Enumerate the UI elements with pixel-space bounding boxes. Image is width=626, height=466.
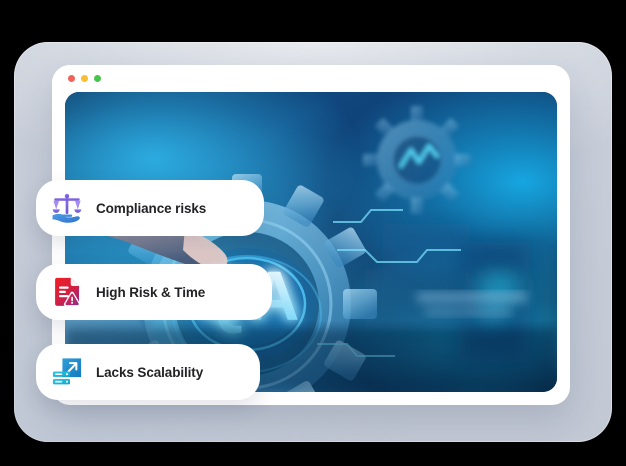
screenshot-stage: QA: [0, 0, 626, 466]
server-growth-icon: [50, 355, 84, 389]
feature-card-lacks-scalability[interactable]: Lacks Scalability: [36, 344, 260, 400]
feature-card-label: Lacks Scalability: [96, 365, 203, 380]
browser-titlebar: [52, 65, 570, 92]
maximize-icon[interactable]: [94, 75, 101, 82]
document-warning-icon: [50, 275, 84, 309]
feature-card-label: Compliance risks: [96, 201, 206, 216]
minimize-icon[interactable]: [81, 75, 88, 82]
close-icon[interactable]: [68, 75, 75, 82]
feature-card-label: High Risk & Time: [96, 285, 205, 300]
feature-card-compliance-risks[interactable]: Compliance risks: [36, 180, 264, 236]
feature-card-high-risk-time[interactable]: High Risk & Time: [36, 264, 272, 320]
scales-of-justice-icon: [50, 191, 84, 225]
